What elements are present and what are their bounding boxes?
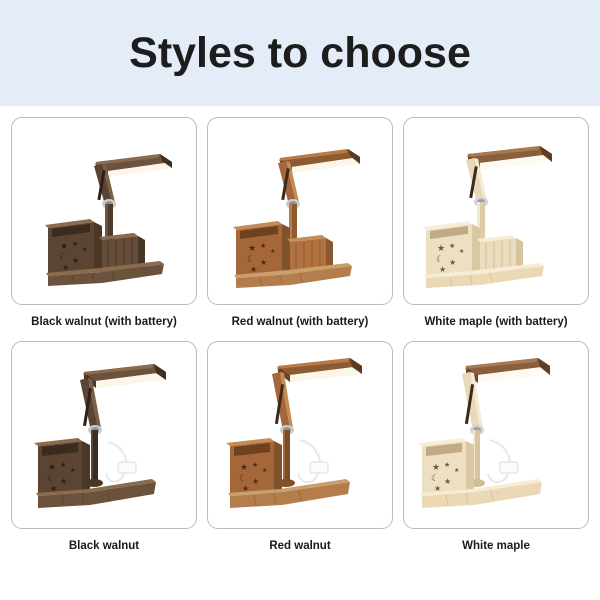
svg-text:★: ★ (82, 246, 87, 253)
product-row-2: ★ ★ ★ ☾ ★ ★ (11, 341, 589, 553)
product-label: White maple (462, 539, 530, 553)
svg-text:★: ★ (260, 242, 266, 250)
lamp-illustration-red-walnut-battery: ★ ★ ★ ☾ ★ ★ (208, 118, 393, 305)
svg-text:★: ★ (48, 462, 56, 472)
product-card[interactable]: ★ ★ ★ ☾ ★ ★ (11, 117, 197, 305)
svg-text:★: ★ (248, 243, 256, 253)
page-title: Styles to choose (0, 0, 600, 106)
lamp-illustration-red-walnut: ★ ★ ★ ☾ ★ ★ (208, 342, 393, 529)
svg-text:☾: ☾ (47, 473, 55, 483)
product-cell-black-walnut-battery[interactable]: ★ ★ ★ ☾ ★ ★ (11, 117, 197, 329)
lamp-illustration-white-maple-battery: ★ ★ ★ ☾ ★ ★ (404, 118, 589, 305)
svg-text:★: ★ (437, 243, 445, 253)
svg-text:☾: ☾ (247, 254, 255, 264)
svg-text:★: ★ (252, 461, 258, 469)
svg-text:★: ★ (262, 467, 267, 474)
lamp-illustration-black-walnut-battery: ★ ★ ★ ☾ ★ ★ (12, 118, 197, 305)
product-label: Red walnut (269, 539, 330, 553)
svg-text:★: ★ (444, 461, 450, 469)
product-card[interactable]: ★ ★ ★ ☾ ★ ★ (207, 117, 393, 305)
svg-text:★: ★ (459, 248, 464, 255)
product-grid: ★ ★ ★ ☾ ★ ★ (11, 117, 589, 553)
product-cell-black-walnut[interactable]: ★ ★ ★ ☾ ★ ★ (11, 341, 197, 553)
product-cell-white-maple-battery[interactable]: ★ ★ ★ ☾ ★ ★ (403, 117, 589, 329)
svg-text:★: ★ (60, 461, 66, 469)
svg-text:☾: ☾ (59, 252, 67, 262)
svg-text:★: ★ (250, 265, 257, 274)
product-cell-red-walnut[interactable]: ★ ★ ★ ☾ ★ ★ (207, 341, 393, 553)
svg-text:★: ★ (444, 477, 451, 486)
product-card[interactable]: ★ ★ ★ ☾ ★ ★ (403, 117, 589, 305)
product-cell-red-walnut-battery[interactable]: ★ ★ ★ ☾ ★ ★ (207, 117, 393, 329)
lamp-illustration-white-maple: ★ ★ ★ ☾ ★ ★ (404, 342, 589, 529)
svg-text:★: ★ (60, 477, 67, 486)
product-label: White maple (with battery) (424, 315, 567, 329)
svg-text:★: ★ (240, 462, 248, 472)
lamp-illustration-black-walnut: ★ ★ ★ ☾ ★ ★ (12, 342, 197, 529)
svg-text:★: ★ (70, 467, 75, 474)
product-card[interactable]: ★ ★ ★ ☾ ★ ★ (403, 341, 589, 529)
svg-text:★: ★ (260, 258, 267, 267)
product-style-selector: Styles to choose (0, 0, 600, 600)
svg-text:★: ★ (449, 258, 456, 267)
svg-text:★: ★ (454, 467, 459, 474)
product-card[interactable]: ★ ★ ★ ☾ ★ ★ (11, 341, 197, 529)
svg-text:★: ★ (60, 241, 68, 251)
svg-text:☾: ☾ (239, 473, 247, 483)
svg-text:★: ★ (72, 256, 79, 265)
svg-text:★: ★ (72, 240, 78, 248)
svg-text:★: ★ (449, 242, 455, 250)
product-label: Black walnut (69, 539, 139, 553)
product-card[interactable]: ★ ★ ★ ☾ ★ ★ (207, 341, 393, 529)
product-cell-white-maple[interactable]: ★ ★ ★ ☾ ★ ★ (403, 341, 589, 553)
svg-text:★: ★ (439, 265, 446, 274)
svg-text:☾: ☾ (436, 254, 444, 264)
product-row-1: ★ ★ ★ ☾ ★ ★ (11, 117, 589, 329)
product-label: Black walnut (with battery) (31, 315, 177, 329)
svg-text:★: ★ (252, 477, 259, 486)
svg-text:★: ★ (62, 263, 69, 272)
svg-text:☾: ☾ (431, 473, 439, 483)
product-label: Red walnut (with battery) (232, 315, 369, 329)
svg-text:★: ★ (432, 462, 440, 472)
svg-text:★: ★ (270, 248, 275, 255)
